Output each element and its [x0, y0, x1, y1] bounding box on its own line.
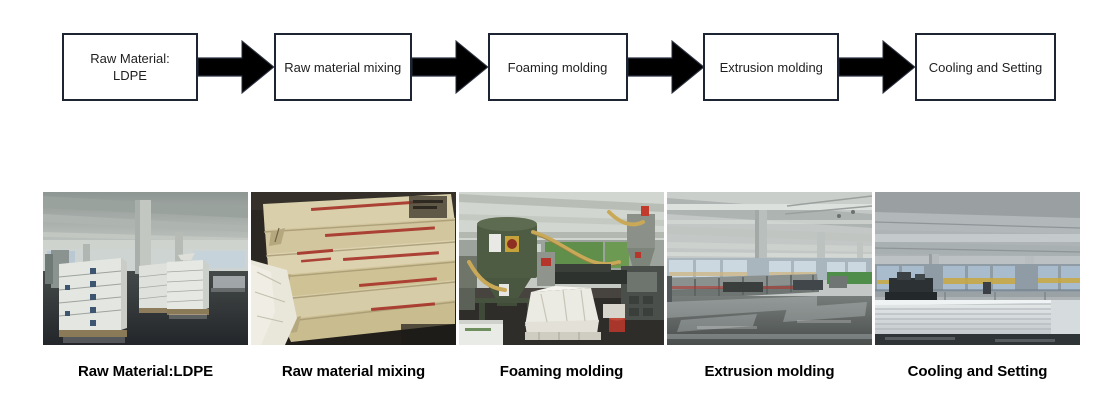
flow-step-label: Raw material mixing: [278, 59, 407, 76]
process-photo-extrusion-molding[interactable]: [667, 192, 872, 345]
flow-step-row: Raw Material: LDPE Raw material mixing F…: [62, 33, 1056, 101]
process-photo-raw-material-mixing[interactable]: [251, 192, 456, 345]
flow-step-box-cooling-and-setting[interactable]: Cooling and Setting: [915, 33, 1056, 101]
flow-step-box-extrusion-molding[interactable]: Extrusion molding: [703, 33, 839, 101]
flow-arrow-2: [412, 37, 488, 97]
photo-caption: Cooling and Setting: [875, 362, 1080, 388]
flow-step-box-raw-material-mixing[interactable]: Raw material mixing: [274, 33, 412, 101]
flow-arrow-1: [198, 37, 274, 97]
process-photo-raw-material[interactable]: [43, 192, 248, 345]
process-photo-foaming-molding[interactable]: [459, 192, 664, 345]
flow-step-box-foaming-molding[interactable]: Foaming molding: [488, 33, 628, 101]
flow-arrow-3: [628, 37, 704, 97]
photo-caption: Foaming molding: [459, 362, 664, 388]
flow-step-label: Raw Material: LDPE: [84, 50, 175, 84]
photo-caption: Raw material mixing: [251, 362, 456, 388]
photo-caption-row: Raw Material:LDPE Raw material mixing Fo…: [43, 362, 1080, 388]
photo-caption: Raw Material:LDPE: [43, 362, 248, 388]
flow-step-label: Foaming molding: [502, 59, 614, 76]
process-photo-strip: [43, 192, 1080, 345]
photo-caption: Extrusion molding: [667, 362, 872, 388]
flow-arrow-4: [839, 37, 915, 97]
flow-step-box-raw-material[interactable]: Raw Material: LDPE: [62, 33, 198, 101]
flow-step-label: Extrusion molding: [714, 59, 829, 76]
flow-step-label: Cooling and Setting: [923, 59, 1048, 76]
process-flow-diagram: Raw Material: LDPE Raw material mixing F…: [0, 0, 1116, 135]
process-photo-cooling-and-setting[interactable]: [875, 192, 1080, 345]
